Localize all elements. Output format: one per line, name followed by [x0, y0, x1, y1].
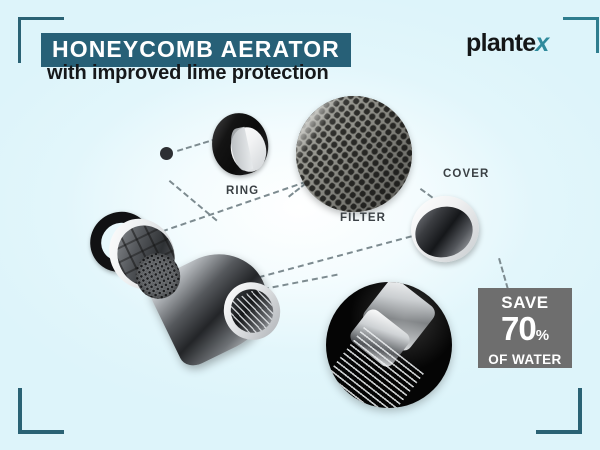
badge-of-water-label: OF WATER: [478, 352, 572, 368]
part-cover: [411, 196, 479, 262]
badge-value-row: 70%: [478, 312, 572, 352]
water-flow-photo-inset: [326, 282, 452, 408]
corner-bracket-top-right: [553, 17, 599, 63]
badge-value: 70: [501, 310, 536, 347]
corner-bracket-bottom-right: [536, 388, 582, 434]
page-subtitle: with improved lime protection: [47, 62, 329, 85]
inset-highlight: [326, 282, 452, 408]
brand-logo-accent: x: [535, 29, 548, 57]
callout-origin-dot: [160, 147, 173, 160]
filter-gloss: [296, 96, 412, 212]
assembled-aerator-product: [88, 208, 278, 373]
save-water-badge: SAVE 70% OF WATER: [478, 288, 572, 368]
infographic-canvas: HONEYCOMB AERATOR with improved lime pro…: [0, 0, 600, 450]
badge-percent: %: [536, 327, 549, 344]
brand-logo: plantex: [466, 29, 549, 58]
corner-bracket-bottom-left: [18, 388, 64, 434]
part-label-cover: COVER: [443, 168, 489, 180]
part-label-ring: RING: [226, 185, 259, 197]
brand-logo-text: plante: [466, 29, 535, 57]
part-ring: [212, 113, 268, 175]
part-label-filter: FILTER: [340, 212, 386, 224]
page-title: HONEYCOMB AERATOR: [52, 37, 340, 62]
part-filter-honeycomb: [296, 96, 412, 212]
leader-line-badge: [498, 258, 509, 289]
